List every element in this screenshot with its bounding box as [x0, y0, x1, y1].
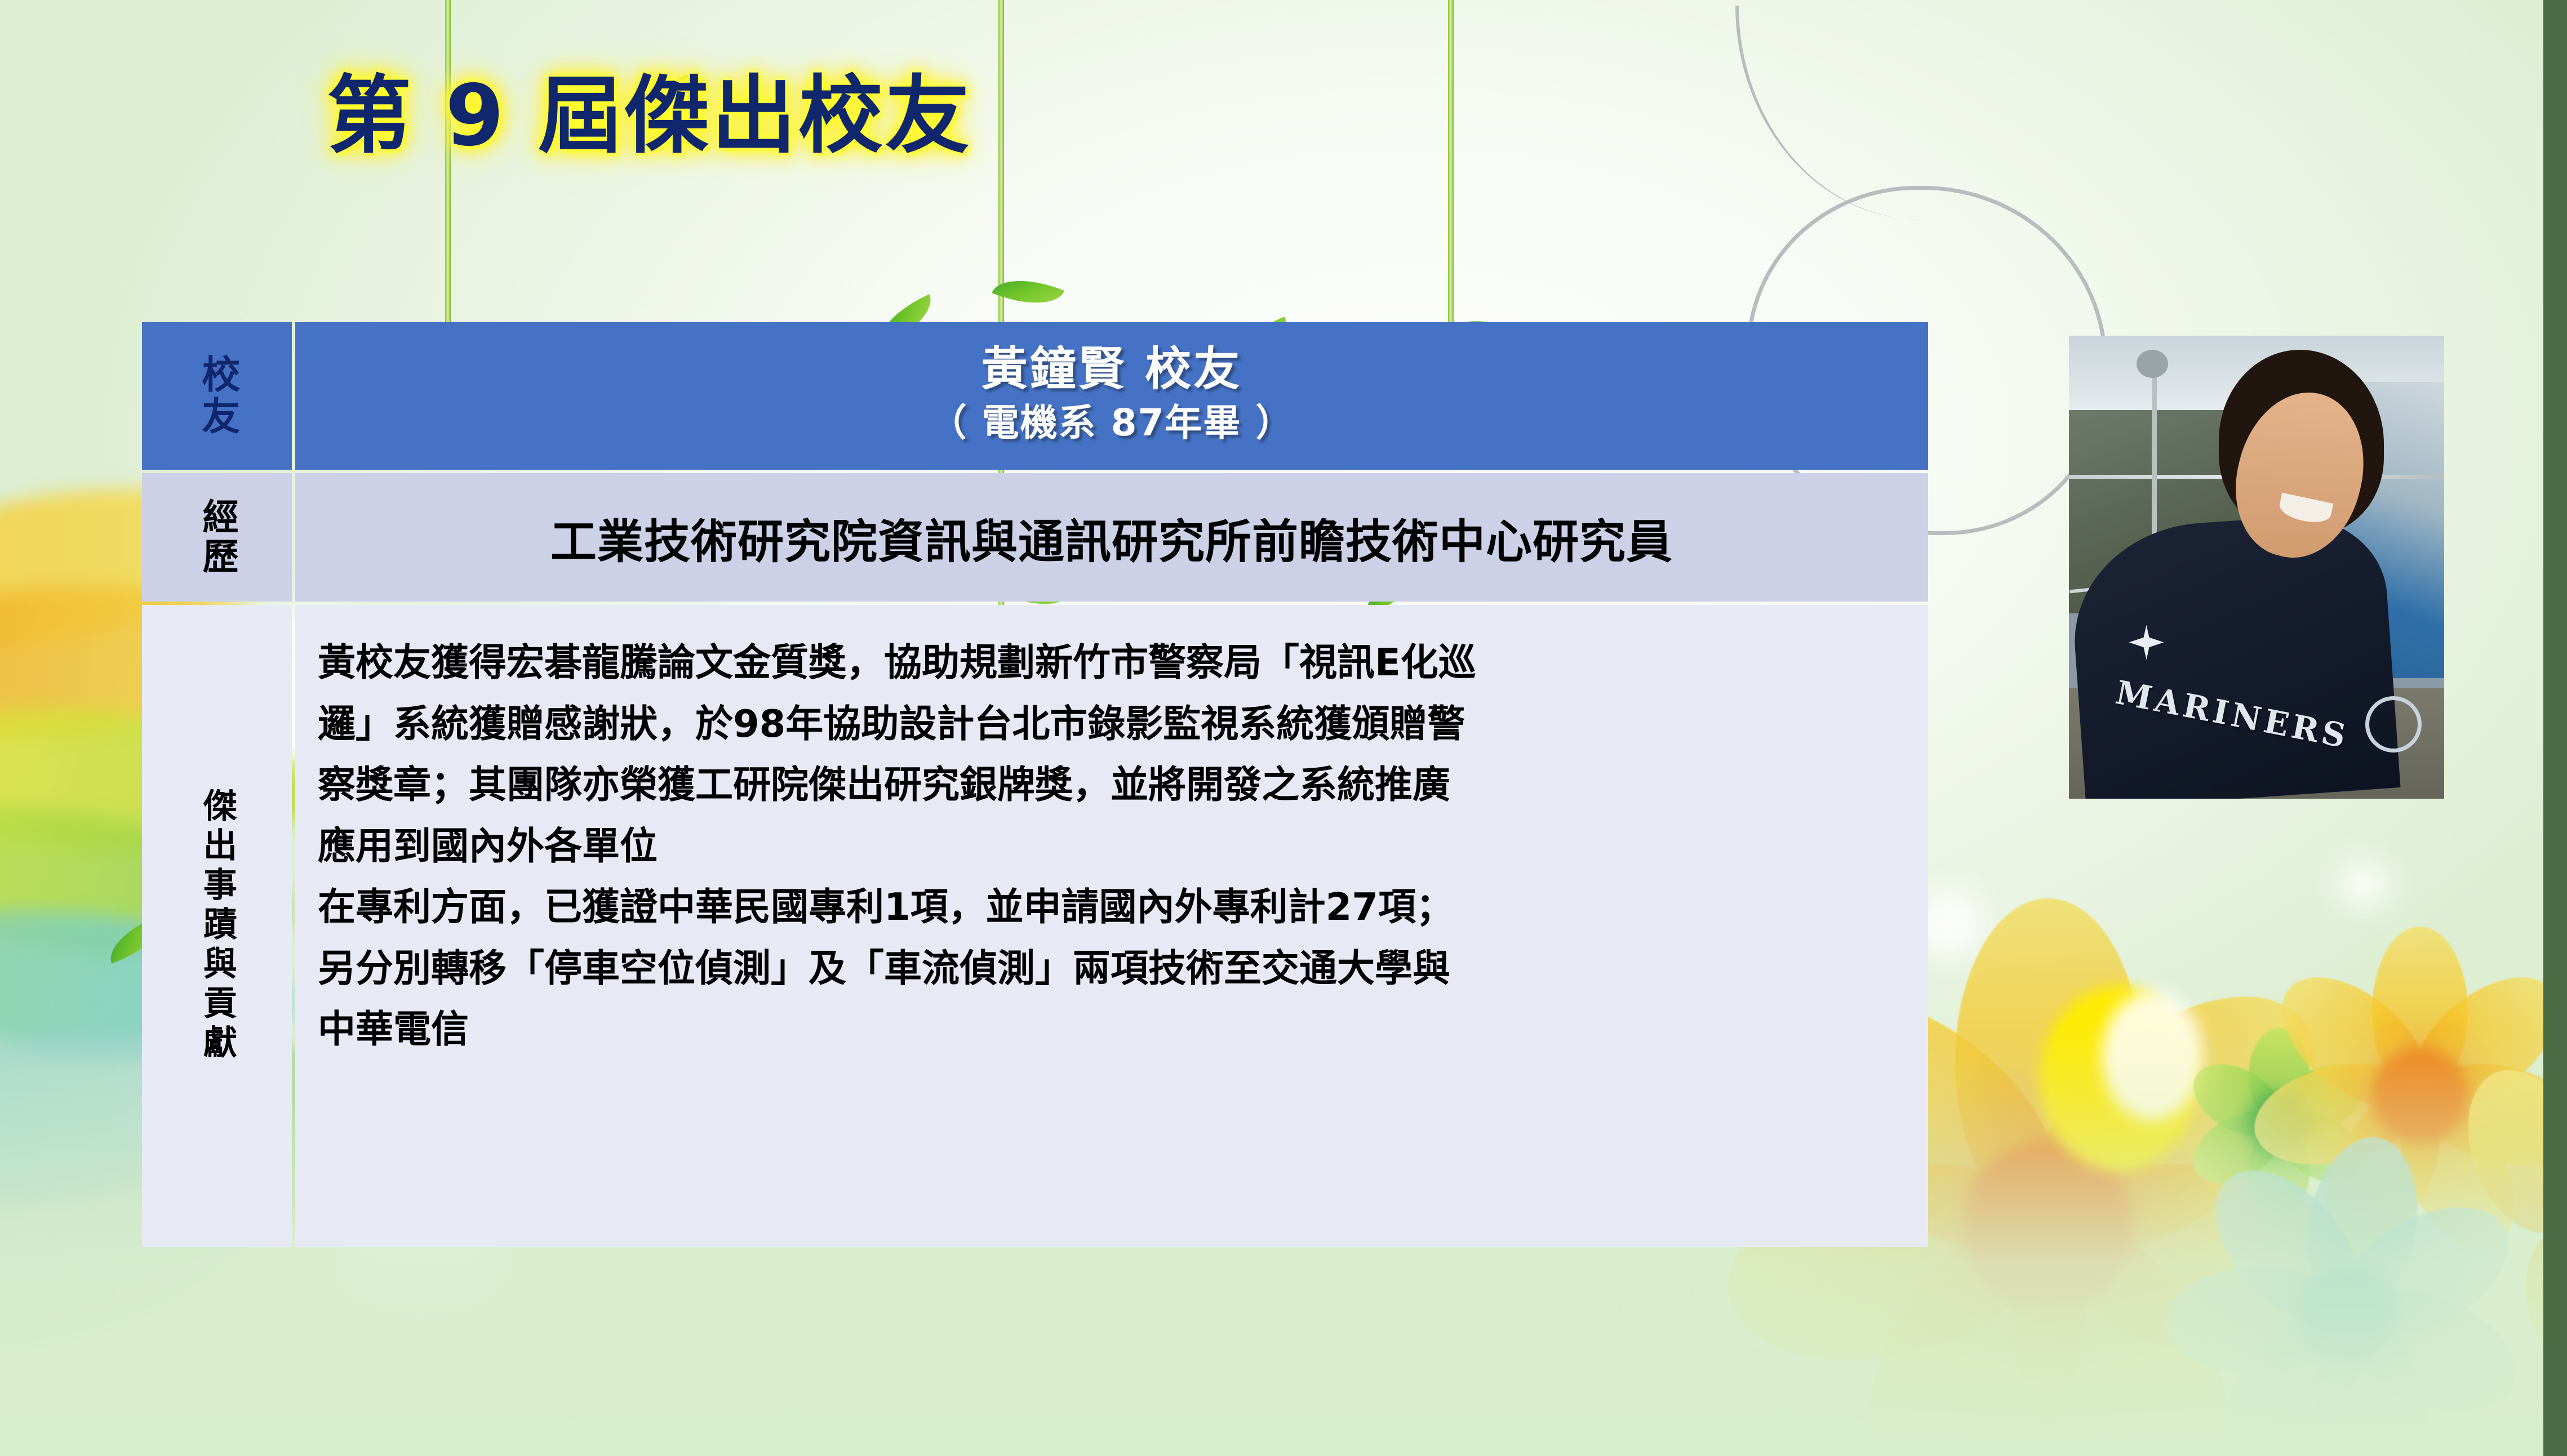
right-green-edge-strip	[2543, 0, 2567, 1456]
table-row: 傑出事蹟與貢獻 黃校友獲得宏碁龍騰論文金質獎，協助規劃新竹市警察局「視訊E化巡 …	[142, 605, 1928, 1247]
row-label-alumnus: 校友	[142, 322, 292, 470]
photo-person-torso	[2069, 510, 2401, 799]
alumnus-photo: MARINERS	[2069, 336, 2444, 799]
achievements-cell: 黃校友獲得宏碁龍騰論文金質獎，協助規劃新竹市警察局「視訊E化巡 邏」系統獲贈感謝…	[295, 605, 1928, 1247]
achievement-line: 在專利方面，已獲證中華民國專利1項，並申請國內外專利計27項；	[318, 876, 1906, 938]
vine-stem	[1448, 0, 1454, 366]
alumnus-department-year: （ 電機系 87年畢 ）	[930, 400, 1294, 445]
photo-post	[2152, 354, 2157, 540]
alumnus-header-cell: 黃鐘賢 校友 （ 電機系 87年畢 ）	[295, 322, 1928, 470]
table-row: 經歷 工業技術研究院資訊與通訊研究所前瞻技術中心研究員	[142, 473, 1928, 602]
decor-blob	[2338, 862, 2389, 907]
alumnus-name: 黃鐘賢 校友	[981, 342, 1242, 397]
achievement-line: 黃校友獲得宏碁龍騰論文金質獎，協助規劃新竹市警察局「視訊E化巡	[318, 632, 1906, 693]
row-label-achievements: 傑出事蹟與貢獻	[142, 605, 292, 1247]
spiral-doodle-icon	[1735, 6, 1921, 220]
alumni-info-table: 校友 黃鐘賢 校友 （ 電機系 87年畢 ） 經歷 工業技術研究院資訊與通訊研究…	[142, 322, 1928, 1247]
achievement-line: 察獎章；其團隊亦榮獲工研院傑出研究銀牌獎，並將開發之系統推廣	[318, 754, 1906, 816]
row-label-experience: 經歷	[142, 473, 292, 602]
photo-post-knob	[2137, 350, 2168, 378]
achievement-line: 另分別轉移「停車空位偵測」及「車流偵測」兩項技術至交通大學與	[318, 938, 1906, 999]
slide-canvas: 第 9 屆傑出校友 校友 黃鐘賢 校友 （ 電機系 87年畢 ） 經歷 工業技術…	[0, 0, 2567, 1456]
table-row: 校友 黃鐘賢 校友 （ 電機系 87年畢 ）	[142, 322, 1928, 470]
achievement-line: 邏」系統獲贈感謝狀，於98年協助設計台北市錄影監視系統獲頒贈警	[318, 693, 1906, 755]
photo-shirt-logo-icon	[2365, 696, 2422, 753]
experience-value: 工業技術研究院資訊與通訊研究所前瞻技術中心研究員	[295, 473, 1928, 602]
achievement-line: 中華電信	[318, 999, 1906, 1060]
achievement-line: 應用到國內外各單位	[318, 816, 1906, 877]
page-title: 第 9 屆傑出校友	[327, 72, 972, 161]
